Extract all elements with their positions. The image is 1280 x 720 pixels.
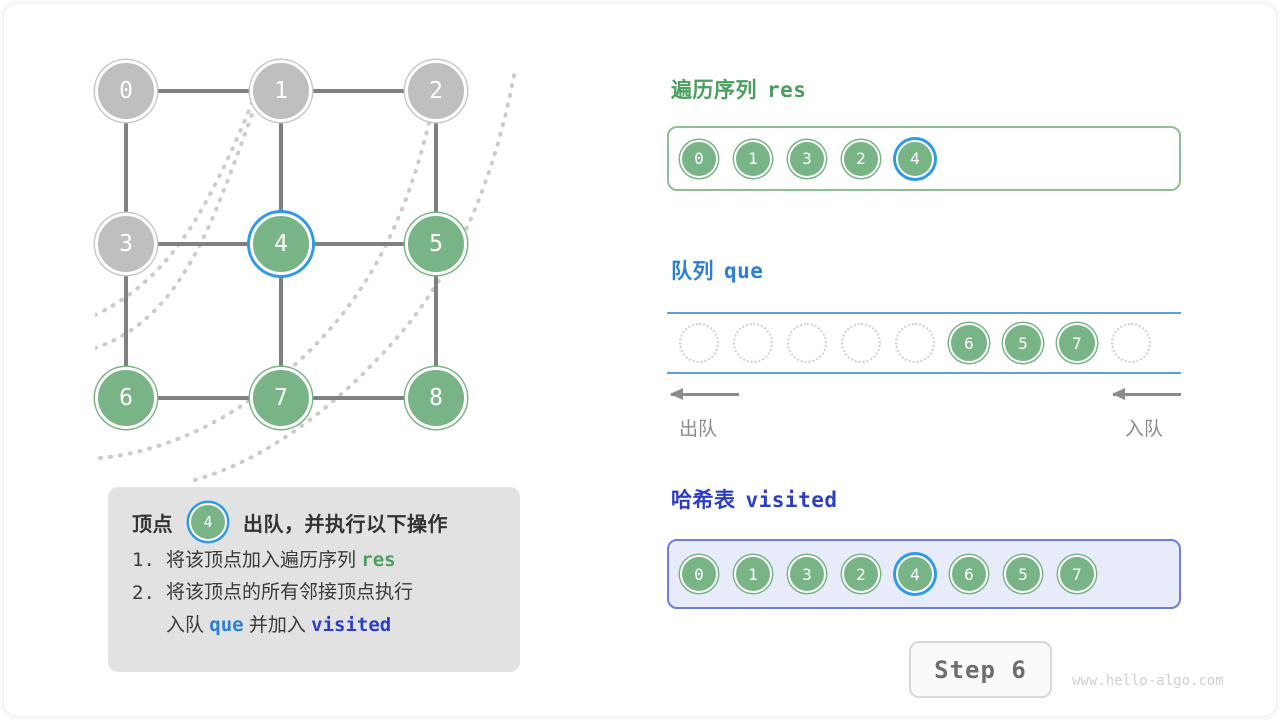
hint-line-3-part-0: 入队 xyxy=(166,615,209,636)
que-section-title: 队列que xyxy=(671,255,763,285)
que-cell-empty[interactable] xyxy=(1111,323,1151,363)
res-title-code: res xyxy=(767,78,806,102)
watermark: www.hello-algo.com xyxy=(1072,673,1224,689)
res-title-cn: 遍历序列 xyxy=(671,79,757,102)
que-cell-empty[interactable] xyxy=(841,323,881,363)
visited-cell-active[interactable]: 4 xyxy=(896,555,934,593)
hint-line-3-part-2: 并加入 xyxy=(244,615,312,636)
que-cell[interactable]: 6 xyxy=(949,323,989,363)
hint-line-1-text: 将该顶点加入遍历序列 res xyxy=(166,545,502,576)
hint-line-1-number: 1. xyxy=(132,545,166,576)
res-cell[interactable]: 0 xyxy=(680,140,718,178)
diagram-canvas: 0 1 2 3 4 5 6 7 8 顶点 4 出队，并执行以下操作 1. 将该顶… xyxy=(0,0,1280,720)
graph-node-5[interactable]: 5 xyxy=(405,213,467,275)
hint-title: 顶点 4 出队，并执行以下操作 xyxy=(132,501,502,543)
hint-line-3-code-que: que xyxy=(209,614,243,636)
graph-node-6[interactable]: 6 xyxy=(95,367,157,429)
hint-line-2-text: 将该顶点的所有邻接顶点执行 xyxy=(166,578,502,608)
visited-cell[interactable]: 6 xyxy=(950,555,988,593)
hint-vertex-chip: 4 xyxy=(189,503,227,541)
hint-line-2-number: 2. xyxy=(132,578,166,608)
que-title-cn: 队列 xyxy=(671,260,714,283)
visited-container: 0 1 3 2 4 6 5 7 xyxy=(667,539,1181,609)
hint-line-3: 入队 que 并加入 visited xyxy=(132,610,502,641)
res-cell[interactable]: 1 xyxy=(734,140,772,178)
hint-title-suffix: 出队，并执行以下操作 xyxy=(243,508,448,537)
visited-section-title: 哈希表visited xyxy=(671,484,838,514)
visited-cell[interactable]: 5 xyxy=(1004,555,1042,593)
que-title-code: que xyxy=(724,259,763,283)
enqueue-label: 入队 xyxy=(1125,414,1163,441)
enqueue-arrow-icon xyxy=(1113,393,1181,396)
visited-cell[interactable]: 0 xyxy=(680,555,718,593)
visited-title-cn: 哈希表 xyxy=(671,489,736,512)
hint-line-3-code-visited: visited xyxy=(311,614,391,636)
que-cell-empty[interactable] xyxy=(787,323,827,363)
graph-node-3[interactable]: 3 xyxy=(95,213,157,275)
res-section-title: 遍历序列res xyxy=(671,74,806,104)
frontier-curves-decoration xyxy=(95,60,525,490)
res-cell[interactable]: 2 xyxy=(842,140,880,178)
visited-cell[interactable]: 3 xyxy=(788,555,826,593)
step-badge: Step 6 xyxy=(909,641,1052,698)
res-container: 0 1 3 2 4 xyxy=(667,126,1181,191)
hint-line-3-text: 入队 que 并加入 visited xyxy=(166,610,502,641)
que-container: 6 5 7 xyxy=(667,312,1181,374)
que-cell[interactable]: 5 xyxy=(1003,323,1043,363)
que-cell-empty[interactable] xyxy=(895,323,935,363)
visited-cell[interactable]: 7 xyxy=(1058,555,1096,593)
dequeue-arrow-icon xyxy=(671,393,739,396)
graph-node-8[interactable]: 8 xyxy=(405,367,467,429)
dequeue-label: 出队 xyxy=(679,414,717,441)
operation-hint-box: 顶点 4 出队，并执行以下操作 1. 将该顶点加入遍历序列 res 2. 将该顶… xyxy=(108,487,520,672)
hint-line-2: 2. 将该顶点的所有邻接顶点执行 xyxy=(132,578,502,608)
hint-title-prefix: 顶点 xyxy=(132,508,173,537)
que-cell[interactable]: 7 xyxy=(1057,323,1097,363)
que-cell-empty[interactable] xyxy=(679,323,719,363)
que-cell-empty[interactable] xyxy=(733,323,773,363)
visited-cell[interactable]: 2 xyxy=(842,555,880,593)
graph-panel: 0 1 2 3 4 5 6 7 8 xyxy=(95,60,525,490)
graph-node-2[interactable]: 2 xyxy=(405,60,467,122)
graph-node-4[interactable]: 4 xyxy=(250,213,312,275)
hint-line-1-code-res: res xyxy=(361,549,395,571)
res-cell-active[interactable]: 4 xyxy=(896,140,934,178)
hint-line-1-part-0: 将该顶点加入遍历序列 xyxy=(166,550,361,571)
visited-cell[interactable]: 1 xyxy=(734,555,772,593)
graph-node-0[interactable]: 0 xyxy=(95,60,157,122)
hint-line-3-number xyxy=(132,610,166,641)
visited-title-code: visited xyxy=(746,488,838,512)
graph-node-1[interactable]: 1 xyxy=(250,60,312,122)
res-cell[interactable]: 3 xyxy=(788,140,826,178)
graph-node-7[interactable]: 7 xyxy=(250,367,312,429)
hint-line-1: 1. 将该顶点加入遍历序列 res xyxy=(132,545,502,576)
